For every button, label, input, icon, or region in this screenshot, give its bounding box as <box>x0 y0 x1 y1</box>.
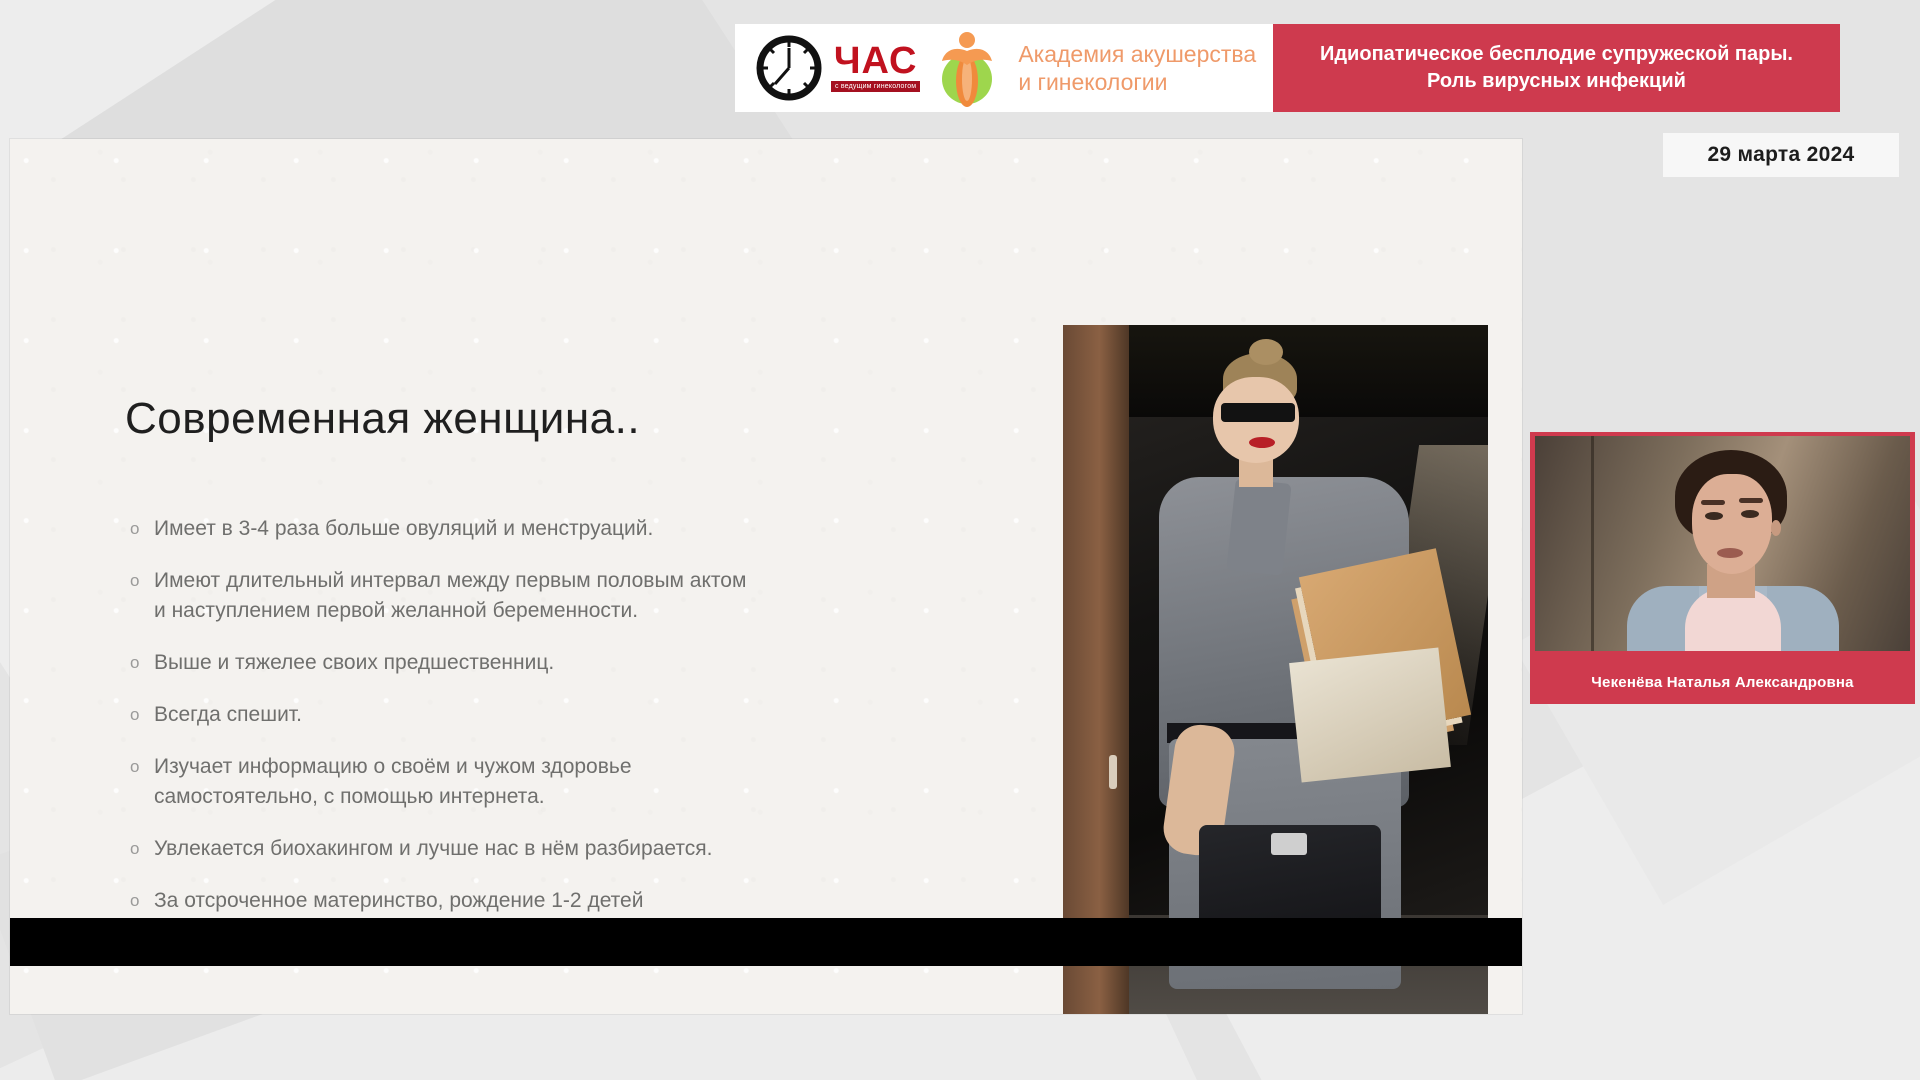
slide-bottom-bar <box>10 918 1522 966</box>
speaker-mouth <box>1717 548 1743 558</box>
bullet-marker-icon: o <box>130 566 154 596</box>
speaker-ear <box>1771 520 1781 536</box>
bullet-marker-icon: o <box>130 752 154 782</box>
header-logo-box: ЧАС с ведущим гинекологом Академия акуше… <box>735 24 1273 112</box>
chas-subtitle: с ведущим гинекологом <box>831 81 920 92</box>
bullet-marker-icon: o <box>130 834 154 864</box>
speaker-eyebrow-left <box>1701 500 1725 505</box>
webcam-video[interactable] <box>1535 436 1910 651</box>
list-item: o Всегда спешит. <box>130 700 920 730</box>
date-text: 29 марта 2024 <box>1707 143 1854 167</box>
bullet-marker-icon: o <box>130 514 154 544</box>
speaker-eye-right <box>1741 510 1759 518</box>
chas-word: ЧАС <box>834 44 918 78</box>
bullet-text: Имеет в 3-4 раза больше овуляций и менст… <box>154 514 653 544</box>
bullet-marker-icon: o <box>130 700 154 730</box>
slide-area: Современная женщина.. o Имеет в 3-4 раза… <box>10 139 1522 1014</box>
photo-door <box>1063 325 1129 1014</box>
photo-door-knob <box>1109 755 1117 789</box>
list-item: o Имеют длительный интервал между первым… <box>130 566 920 626</box>
date-badge: 29 марта 2024 <box>1663 133 1899 177</box>
bullet-marker-icon: o <box>130 648 154 678</box>
list-item: o Выше и тяжелее своих предшественниц. <box>130 648 920 678</box>
slide-photo-woman <box>1063 325 1488 1014</box>
photo-woman-lips <box>1249 437 1275 448</box>
speaker-name-label: Чекенёва Наталья Александровна <box>1530 660 1915 704</box>
speaker-name-text: Чекенёва Наталья Александровна <box>1591 674 1853 691</box>
presentation-title: Идиопатическое бесплодие супружеской пар… <box>1320 41 1793 95</box>
photo-papers <box>1289 647 1451 782</box>
speaker-face <box>1692 474 1772 574</box>
bullet-text: Изучает информацию о своём и чужом здоро… <box>154 752 632 812</box>
sunglasses-icon <box>1221 403 1295 422</box>
list-item: o Увлекается биохакингом и лучше нас в н… <box>130 834 920 864</box>
photo-woman-lapel <box>1226 478 1291 575</box>
presentation-title-line2: Роль вирусных инфекций <box>1427 70 1686 92</box>
speaker-eyebrow-right <box>1739 498 1763 503</box>
presentation-title-line1: Идиопатическое бесплодие супружеской пар… <box>1320 43 1793 65</box>
chas-logo-text: ЧАС с ведущим гинекологом <box>831 44 920 92</box>
slide-bullet-list: o Имеет в 3-4 раза больше овуляций и мен… <box>130 514 920 968</box>
webcam-wall-seam <box>1591 436 1594 651</box>
clock-icon <box>753 32 825 104</box>
slide-title: Современная женщина.. <box>125 394 640 444</box>
photo-ceiling <box>1129 325 1488 417</box>
bullet-text: Выше и тяжелее своих предшественниц. <box>154 648 554 678</box>
bullet-text: Увлекается биохакингом и лучше нас в нём… <box>154 834 712 864</box>
bullet-text: Имеют длительный интервал между первым п… <box>154 566 746 626</box>
academy-name-text: Академия акушерства и гинекологии <box>1018 40 1273 96</box>
presentation-title-bar: Идиопатическое бесплодие супружеской пар… <box>1273 24 1840 112</box>
photo-handbag-clasp <box>1271 833 1307 855</box>
photo-woman-bun <box>1249 339 1283 365</box>
bullet-marker-icon: o <box>130 886 154 916</box>
academy-flower-icon <box>936 29 998 107</box>
speaker-eye-left <box>1705 512 1723 520</box>
bullet-text: Всегда спешит. <box>154 700 302 730</box>
list-item: o Имеет в 3-4 раза больше овуляций и мен… <box>130 514 920 544</box>
list-item: o Изучает информацию о своём и чужом здо… <box>130 752 920 812</box>
